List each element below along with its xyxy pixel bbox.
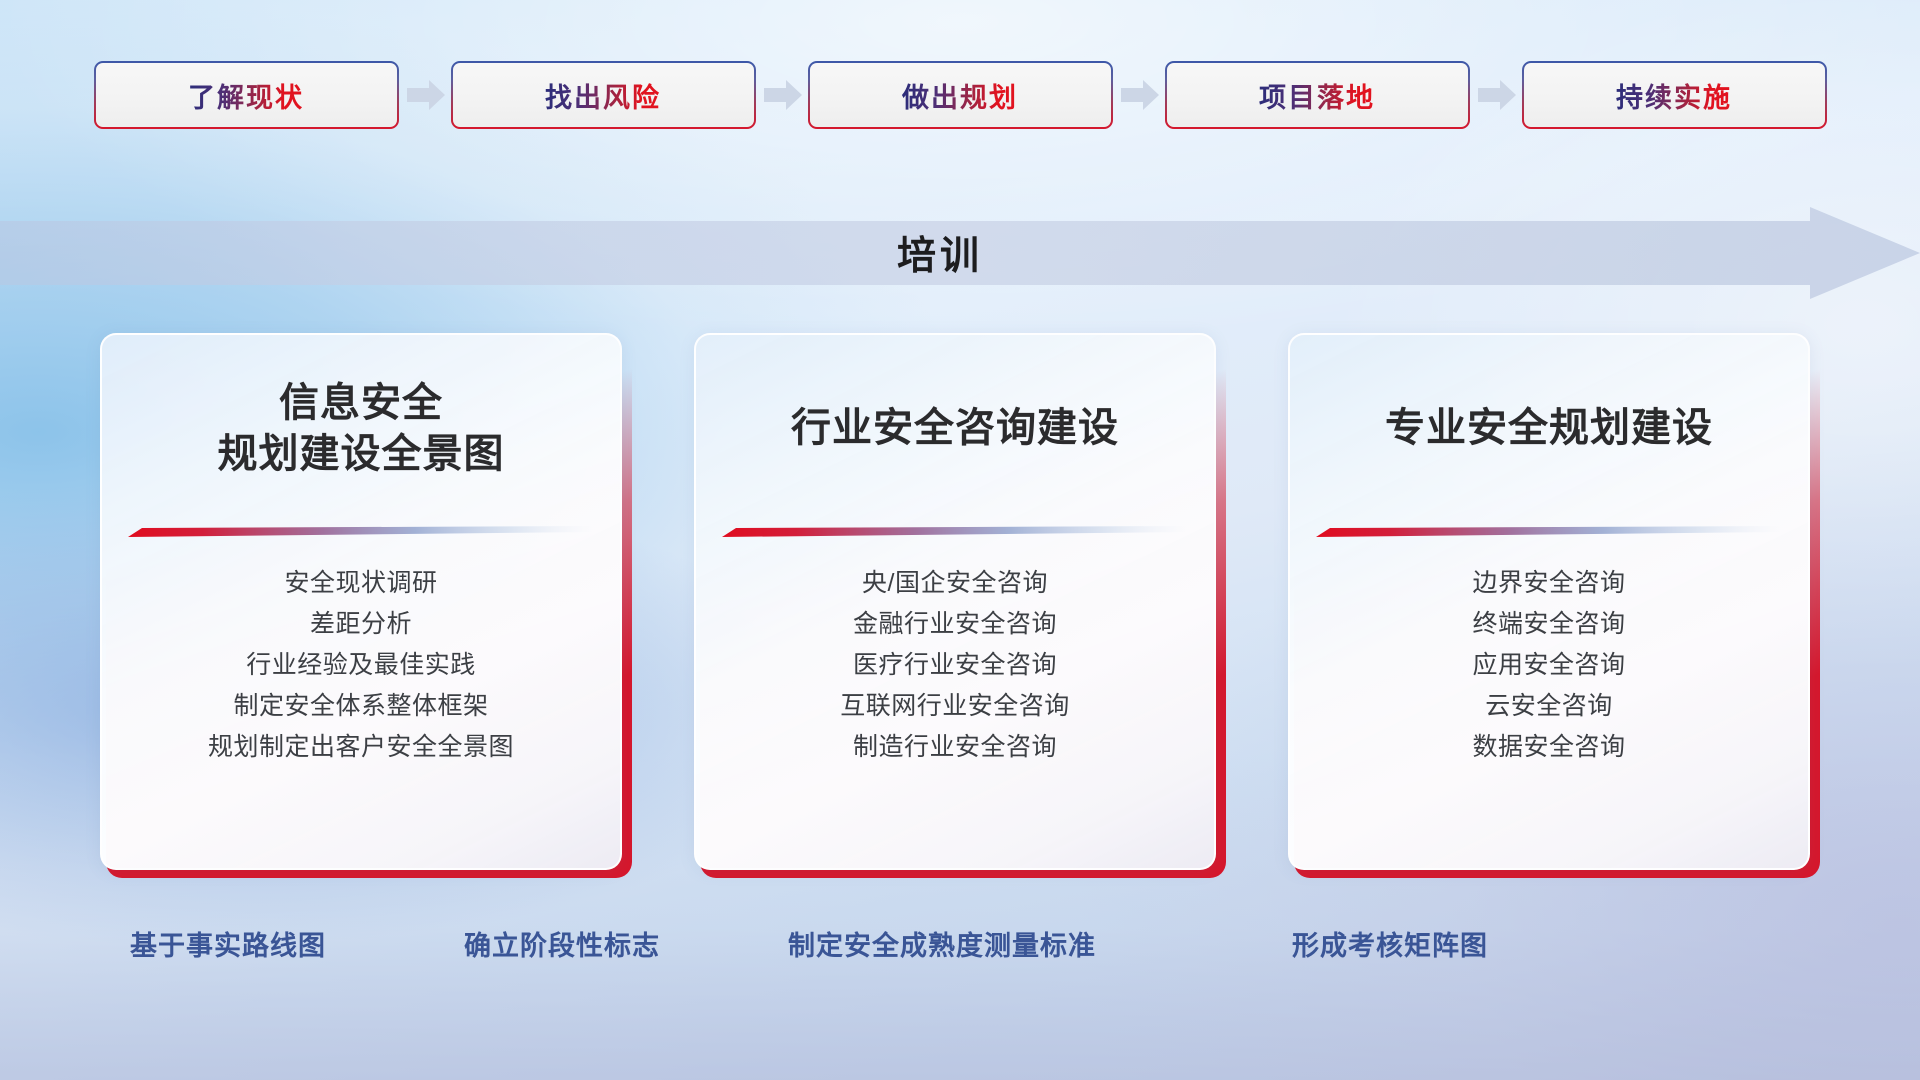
step-inner-surface: 持续实施	[1524, 63, 1825, 127]
card-title-line: 规划建设全景图	[218, 429, 505, 480]
step-label: 找出风险	[545, 76, 661, 115]
caption-row: 基于事实路线图 确立阶段性标志 制定安全成熟度测量标准 形成考核矩阵图	[0, 920, 1920, 980]
step-label: 了解现状	[188, 76, 304, 115]
card-title: 信息安全 规划建设全景图	[102, 335, 620, 523]
process-step-4[interactable]: 持续实施	[1522, 61, 1827, 129]
step-arrow-right-icon-0	[399, 60, 451, 130]
caption-2: 制定安全成熟度测量标准	[788, 920, 1096, 966]
training-band-label: 培训	[897, 225, 983, 281]
step-inner-surface: 找出风险	[453, 63, 754, 127]
card-item-list: 央/国企安全咨询 金融行业安全咨询 医疗行业安全咨询 互联网行业安全咨询 制造行…	[696, 549, 1214, 868]
card-item-list: 边界安全咨询 终端安全咨询 应用安全咨询 云安全咨询 数据安全咨询	[1290, 549, 1808, 868]
process-step-1[interactable]: 找出风险	[451, 61, 756, 129]
card-list-item: 安全现状调研	[284, 563, 437, 604]
training-band-label-wrap: 培训	[0, 207, 1880, 299]
card-list-item: 制造行业安全咨询	[853, 727, 1057, 768]
step-inner-surface: 做出规划	[810, 63, 1111, 127]
card-title-line: 专业安全规划建设	[1385, 403, 1713, 454]
card-list-item: 边界安全咨询	[1472, 563, 1625, 604]
step-arrow-right-icon-2	[1113, 60, 1165, 130]
card-list-item: 制定安全体系整体框架	[233, 686, 488, 727]
caption-0: 基于事实路线图	[130, 920, 326, 966]
card-row: 信息安全 规划建设全景图	[0, 333, 1920, 878]
gradient-divider-icon	[126, 525, 592, 539]
card-list-item: 医疗行业安全咨询	[853, 645, 1057, 686]
step-inner-surface: 了解现状	[96, 63, 397, 127]
card-surface: 行业安全咨询建设	[694, 333, 1216, 870]
step-label: 持续实施	[1616, 76, 1732, 115]
step-arrow-right-icon-1	[756, 60, 808, 130]
caption-3: 形成考核矩阵图	[1292, 920, 1488, 966]
step-arrow-right-icon-3	[1470, 60, 1522, 130]
card-title-line: 行业安全咨询建设	[791, 403, 1119, 454]
card-list-item: 数据安全咨询	[1472, 727, 1625, 768]
card-list-item: 差距分析	[310, 604, 412, 645]
process-step-flow: 了解现状 找出风险 做出规划	[0, 60, 1920, 130]
caption-1: 确立阶段性标志	[464, 920, 660, 966]
gradient-divider-icon	[720, 525, 1186, 539]
step-gradient-frame: 找出风险	[451, 61, 756, 129]
card-list-item: 互联网行业安全咨询	[840, 686, 1070, 727]
process-step-0[interactable]: 了解现状	[94, 61, 399, 129]
card-surface: 专业安全规划建设	[1288, 333, 1810, 870]
info-card-0[interactable]: 信息安全 规划建设全景图	[100, 333, 632, 878]
step-gradient-frame: 做出规划	[808, 61, 1113, 129]
gradient-divider-icon	[1314, 525, 1780, 539]
card-list-item: 云安全咨询	[1485, 686, 1613, 727]
card-list-item: 规划制定出客户安全全景图	[208, 727, 514, 768]
card-title: 行业安全咨询建设	[696, 335, 1214, 523]
card-surface: 信息安全 规划建设全景图	[100, 333, 622, 870]
info-card-1[interactable]: 行业安全咨询建设	[694, 333, 1226, 878]
step-inner-surface: 项目落地	[1167, 63, 1468, 127]
card-list-item: 金融行业安全咨询	[853, 604, 1057, 645]
info-card-2[interactable]: 专业安全规划建设	[1288, 333, 1820, 878]
step-label: 做出规划	[902, 76, 1018, 115]
card-title: 专业安全规划建设	[1290, 335, 1808, 523]
step-gradient-frame: 了解现状	[94, 61, 399, 129]
process-step-2[interactable]: 做出规划	[808, 61, 1113, 129]
step-gradient-frame: 持续实施	[1522, 61, 1827, 129]
process-step-3[interactable]: 项目落地	[1165, 61, 1470, 129]
card-list-item: 应用安全咨询	[1472, 645, 1625, 686]
card-title-line: 信息安全	[279, 378, 443, 429]
card-list-item: 央/国企安全咨询	[862, 563, 1048, 604]
step-gradient-frame: 项目落地	[1165, 61, 1470, 129]
card-item-list: 安全现状调研 差距分析 行业经验及最佳实践 制定安全体系整体框架 规划制定出客户…	[102, 549, 620, 868]
card-list-item: 行业经验及最佳实践	[246, 645, 476, 686]
card-list-item: 终端安全咨询	[1472, 604, 1625, 645]
step-label: 项目落地	[1259, 76, 1375, 115]
